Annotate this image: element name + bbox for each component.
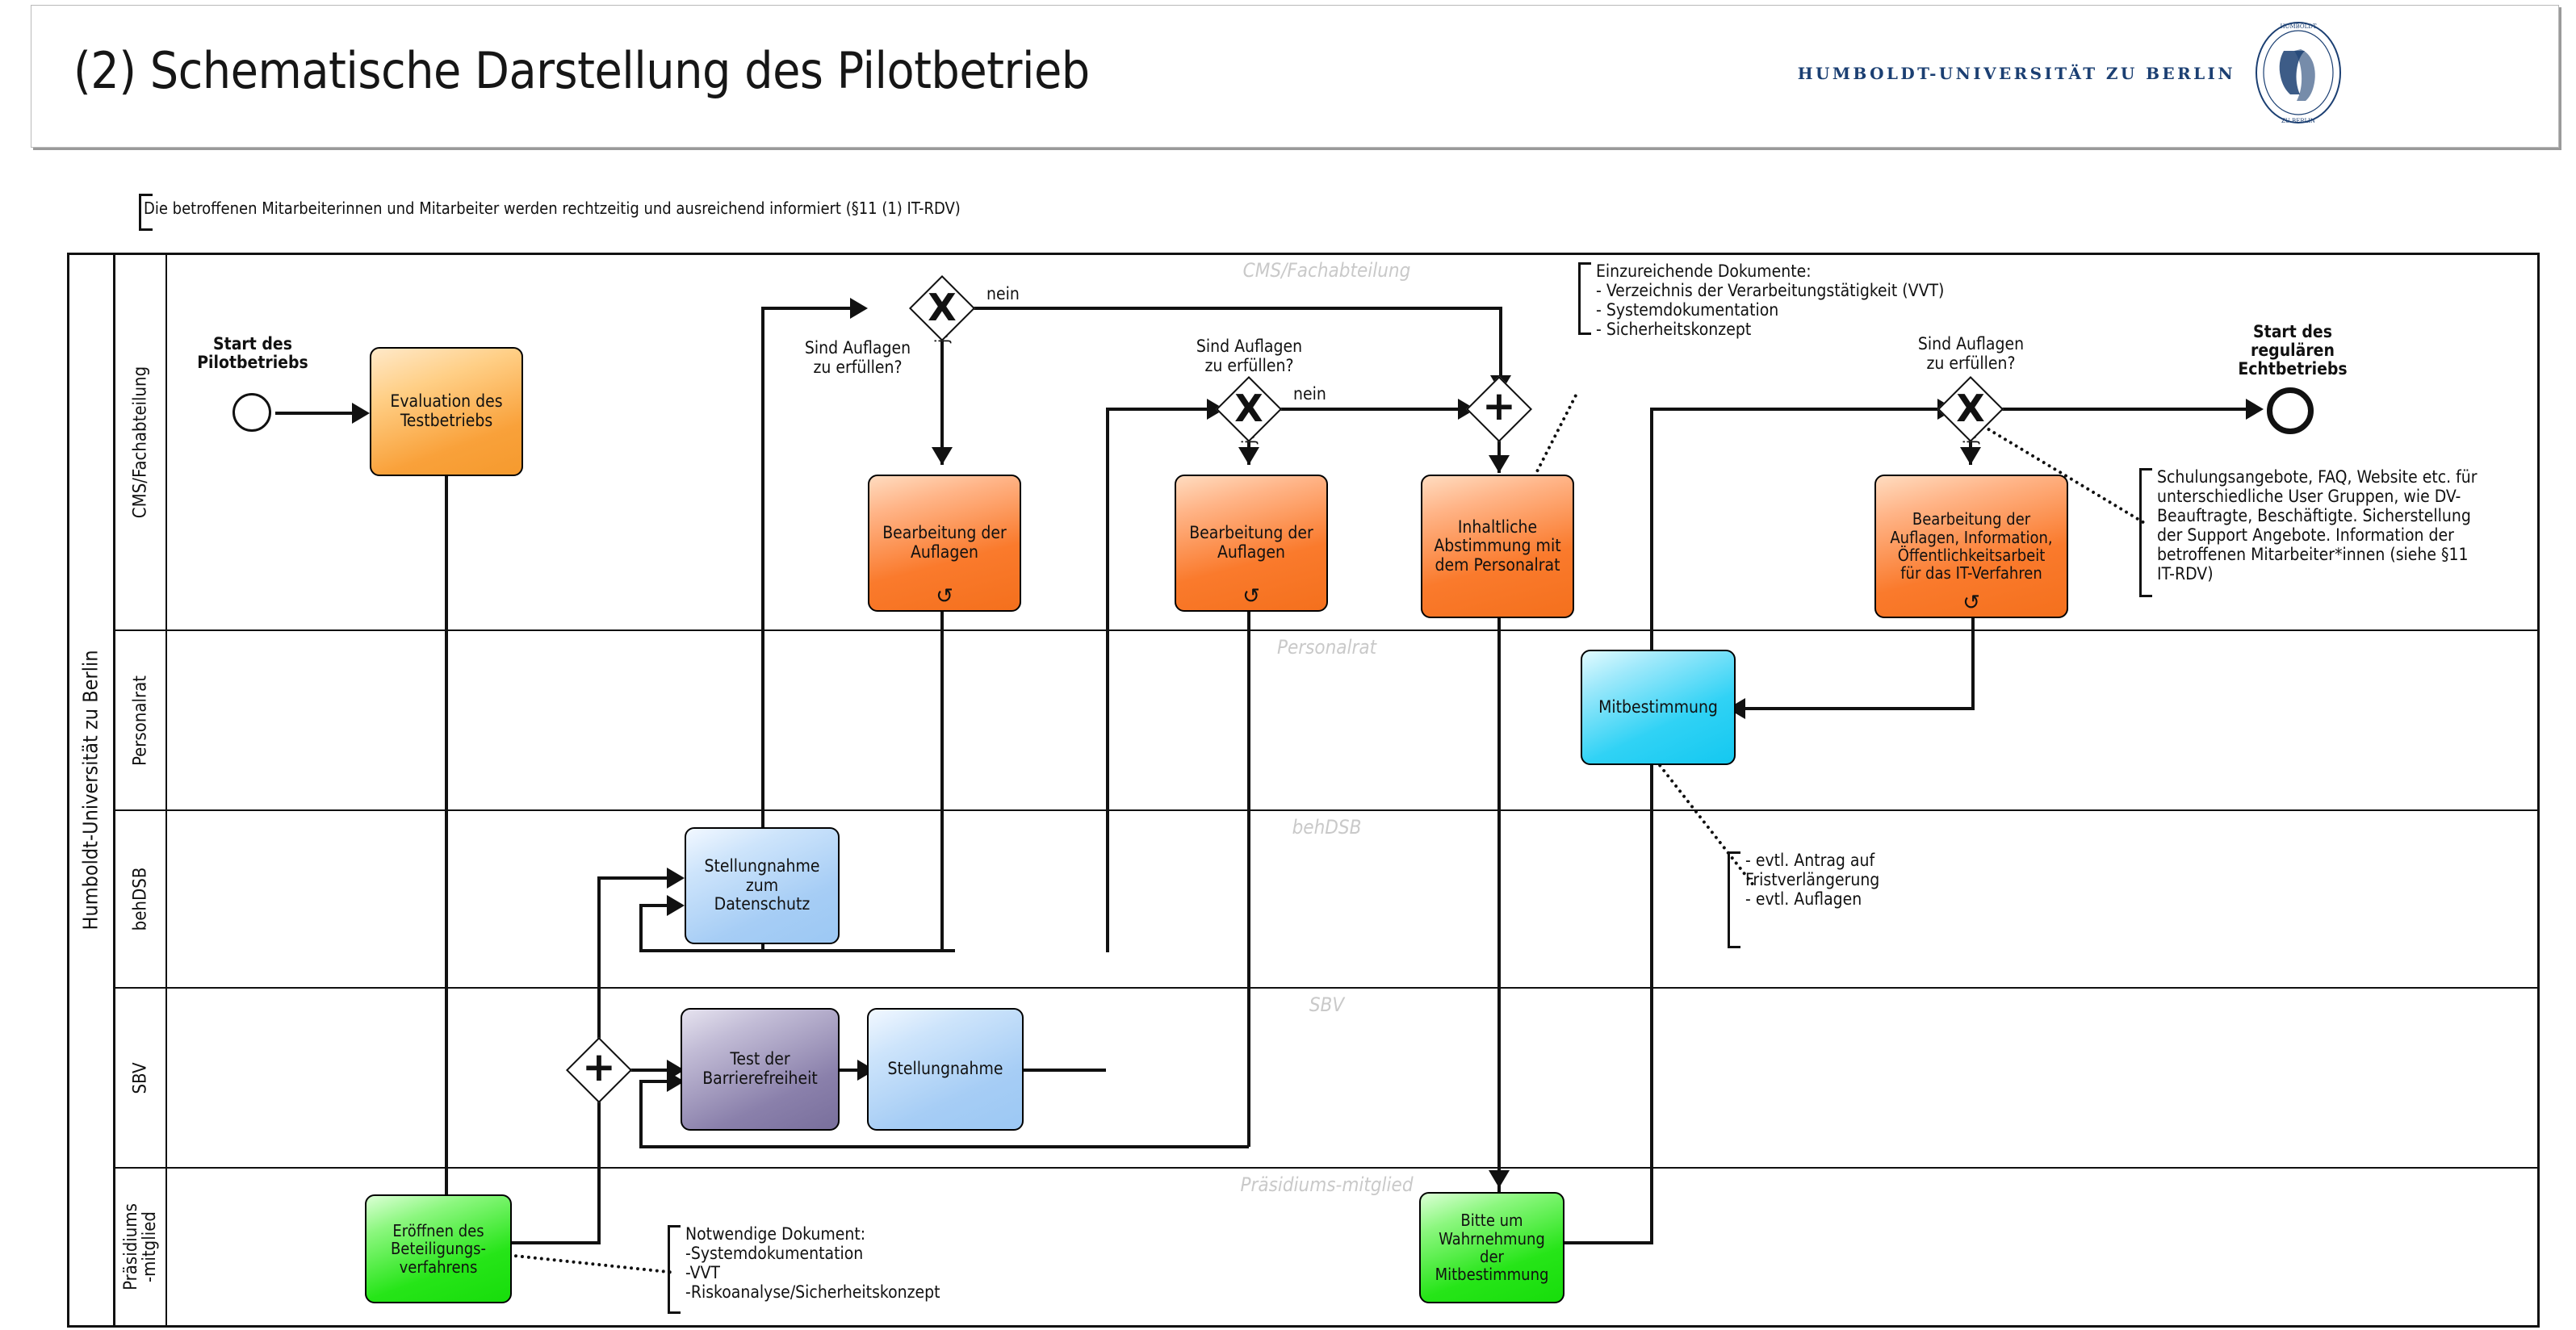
loop-marker-icon-1: ↺: [936, 586, 953, 607]
lane-sbv: SBV SBV: [115, 989, 2538, 1169]
lane-personalrat: Personalrat Personalrat: [115, 631, 2538, 811]
task-mitbestimmung[interactable]: Mitbestimmung: [1581, 650, 1736, 765]
lane-watermark-cms: CMS/Fachabteilung: [115, 259, 2538, 282]
task-bitte-wahrnehmung[interactable]: Bitte um Wahrnehmung der Mitbestimmung: [1419, 1192, 1564, 1303]
diagram-page: (2) Schematische Darstellung des Pilotbe…: [0, 0, 2576, 1330]
gateway-1-question: Sind Auflagen zu erfüllen?: [771, 339, 945, 377]
flow-g4-to-end: [1994, 408, 2257, 411]
arrowhead-into-g1: [850, 298, 868, 319]
annotation-3-bracket: [1728, 851, 1740, 948]
gateway-2-no-label: nein: [1293, 384, 1326, 404]
task-eroeffnen-beteiligung-label: Eröffnen des Beteiligungs- verfahrens: [391, 1222, 486, 1276]
task-stellungnahme[interactable]: Stellungnahme: [867, 1008, 1024, 1131]
lane-label-cms-text: CMS/Fachabteilung: [131, 366, 151, 517]
loop-marker-icon-2: ↺: [1242, 586, 1260, 607]
lane-label-personalrat-text: Personalrat: [131, 675, 151, 765]
flow-t2-to-ds-up: [639, 904, 643, 951]
lane-label-sbv-text: SBV: [131, 1062, 151, 1094]
flow-t5-to-t6: [1736, 707, 1975, 710]
task-stellungnahme-datenschutz[interactable]: Stellungnahme zum Datenschutz: [685, 827, 840, 944]
task-stellungnahme-datenschutz-label: Stellungnahme zum Datenschutz: [704, 857, 819, 914]
task-bearbeitung-2[interactable]: Bearbeitung der Auflagen ↺: [1175, 475, 1328, 612]
gateway-2-glyph: X: [1225, 383, 1272, 433]
arrowhead-t10-to-stellungnahme-ds: [667, 868, 685, 889]
task-bearbeitung-2-label: Bearbeitung der Auflagen: [1189, 524, 1313, 562]
lane-watermark-behdsb: behDSB: [115, 816, 2538, 839]
flow-t11-right: [1564, 1241, 1653, 1244]
task-bearbeitung-information[interactable]: Bearbeitung der Auflagen, Information, Ö…: [1874, 475, 2068, 618]
arrowhead-g1-yes-to-t2: [932, 447, 953, 465]
arrowhead-g3-to-t4: [1489, 455, 1510, 473]
pool-label-text: Humboldt-Universität zu Berlin: [78, 650, 102, 931]
gateway-1-no-label: nein: [986, 284, 1020, 303]
annotation-einzureichende-dokumente: Einzureichende Dokumente: - Verzeichnis …: [1578, 262, 2063, 335]
annotation-2-text: Schulungsangebote, FAQ, Website etc. für…: [2157, 468, 2478, 584]
lane-watermark-personalrat: Personalrat: [115, 636, 2538, 659]
top-annotation-text: Die betroffenen Mitarbeiterinnen und Mit…: [144, 199, 961, 218]
flow-into-g4: [1650, 408, 1945, 411]
pool-label: Humboldt-Universität zu Berlin: [67, 253, 115, 1328]
end-event-label: Start des regulären Echtbetriebs: [2224, 323, 2361, 379]
arrowhead-start-to-t1: [352, 403, 370, 424]
task-bearbeitung-1[interactable]: Bearbeitung der Auflagen ↺: [868, 475, 1021, 612]
arrowhead-g4-yes-to-t5: [1960, 447, 1981, 465]
start-event-label: Start des Pilotbetriebs: [187, 335, 318, 372]
flow-g2-no: [1272, 408, 1470, 411]
lane-watermark-sbv: SBV: [115, 993, 2538, 1016]
task-inhaltliche-abstimmung-label: Inhaltliche Abstimmung mit dem Personalr…: [1434, 518, 1560, 575]
lane-watermark-praesidium: Präsidiums-mitglied: [115, 1173, 2538, 1196]
lane-label-praesidium-text: Präsidiums -mitglied: [122, 1203, 159, 1290]
annotation-1-bracket: [1578, 262, 1591, 335]
annotation-4-text: Notwendige Dokument: -Systemdokumentatio…: [685, 1225, 940, 1303]
annotation-3-text: - evtl. Antrag auf Fristverlängerung - e…: [1745, 851, 1879, 910]
flow-t4-down: [1497, 617, 1501, 1198]
annotation-1-text: Einzureichende Dokumente: - Verzeichnis …: [1596, 262, 1944, 340]
gateway-1-glyph: X: [919, 282, 965, 332]
start-event[interactable]: [232, 393, 271, 432]
arrowhead-g2-yes-to-t3: [1238, 447, 1259, 465]
page-header: (2) Schematische Darstellung des Pilotbe…: [31, 5, 2559, 148]
flow-start-to-t1: [275, 412, 364, 415]
task-test-barrierefreiheit[interactable]: Test der Barrierefreiheit: [681, 1008, 840, 1131]
flow-into-g1: [761, 307, 858, 310]
svg-text:ZU BERLIN: ZU BERLIN: [2281, 118, 2315, 124]
arrowhead-t4-to-t11: [1489, 1170, 1510, 1188]
end-event[interactable]: [2267, 387, 2314, 434]
task-mitbestimmung-label: Mitbestimmung: [1598, 698, 1718, 717]
task-stellungnahme-label: Stellungnahme: [887, 1060, 1003, 1079]
flow-g1-no: [965, 307, 1502, 310]
annotation-fristverlaengerung: - evtl. Antrag auf Fristverlängerung - e…: [1728, 851, 1937, 948]
gateway-2-question: Sind Auflagen zu erfüllen?: [1162, 337, 1336, 375]
arrowhead-g4-to-end: [2246, 399, 2264, 420]
lane-label-cms: CMS/Fachabteilung: [115, 254, 165, 629]
svg-text:HUMBOLDT: HUMBOLDT: [2280, 23, 2316, 30]
loop-marker-icon-3: ↺: [1962, 592, 1980, 613]
university-seal-icon: HUMBOLDT ZU BERLIN: [2250, 19, 2347, 127]
task-bitte-wahrnehmung-label: Bitte um Wahrnehmung der Mitbestimmung: [1435, 1211, 1549, 1284]
flow-t3-sbv-up: [639, 1080, 643, 1147]
task-test-barrierefreiheit-label: Test der Barrierefreiheit: [702, 1050, 818, 1088]
annotation-2-bracket: [2139, 468, 2152, 597]
gateway-4-glyph: X: [1947, 383, 1994, 433]
flow-t9-out: [1024, 1069, 1106, 1072]
gateway-3-glyph: +: [1476, 381, 1523, 431]
annotation-4-bracket: [668, 1225, 681, 1314]
arrowhead-t2-to-ds: [667, 895, 685, 916]
task-inhaltliche-abstimmung[interactable]: Inhaltliche Abstimmung mit dem Personalr…: [1421, 475, 1574, 618]
flow-t11-up: [1650, 730, 1653, 1244]
flow-t2-to-ds: [639, 949, 942, 952]
task-evaluation[interactable]: Evaluation des Testbetriebs: [370, 347, 523, 476]
task-evaluation-label: Evaluation des Testbetriebs: [390, 392, 502, 430]
lane-label-behdsb-text: behDSB: [131, 868, 151, 931]
task-bearbeitung-1-label: Bearbeitung der Auflagen: [882, 524, 1007, 562]
task-bearbeitung-information-label: Bearbeitung der Auflagen, Information, Ö…: [1890, 510, 2052, 583]
flow-t10-right: [512, 1241, 601, 1244]
annotation-notwendige-dokument: Notwendige Dokument: -Systemdokumentatio…: [668, 1225, 991, 1314]
flow-t2-down: [940, 612, 944, 951]
gateway-5-glyph: +: [576, 1042, 622, 1092]
lane-behdsb: behDSB behDSB: [115, 811, 2538, 989]
page-title: (2) Schematische Darstellung des Pilotbe…: [73, 41, 1090, 100]
flow-ds-out-up: [1106, 408, 1109, 952]
gateway-4-question: Sind Auflagen zu erfüllen?: [1884, 335, 2058, 373]
task-eroeffnen-beteiligung[interactable]: Eröffnen des Beteiligungs- verfahrens: [365, 1194, 512, 1303]
flow-t3-to-sbv: [639, 1145, 1249, 1148]
annotation-schulungsangebote: Schulungsangebote, FAQ, Website etc. für…: [2139, 468, 2519, 597]
university-wordmark: HUMBOLDT-UNIVERSITÄT ZU BERLIN: [1798, 64, 2235, 83]
flow-t1-down: [445, 476, 448, 1241]
flow-t3-down: [1247, 612, 1250, 1147]
flow-into-g2: [1106, 408, 1215, 411]
